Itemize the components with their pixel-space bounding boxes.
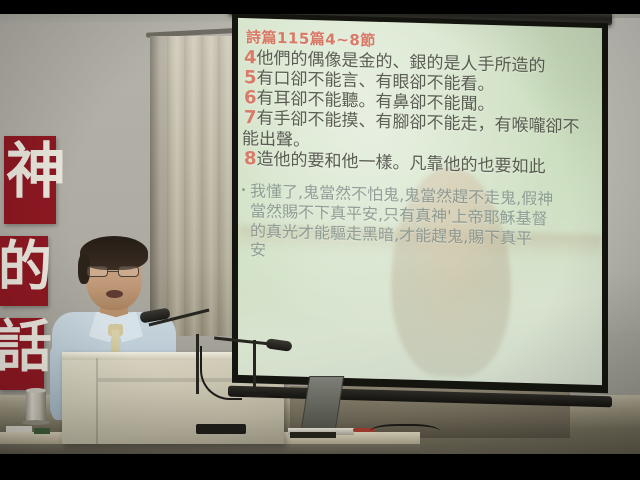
verse-number: 6 xyxy=(244,87,257,108)
wall-glyph-3: 話 xyxy=(0,320,42,376)
bullet-text: 我懂了,鬼當然不怕鬼,鬼當然趕不走鬼,假神 當然賜不下真平安,只有真神'上帝耶穌… xyxy=(250,181,598,270)
cup xyxy=(26,390,46,424)
letterbox-top xyxy=(0,0,640,14)
glasses-lens-right xyxy=(118,266,139,277)
verse-number: 4 xyxy=(244,47,257,68)
microphone-stand-1 xyxy=(196,334,199,394)
wall-glyph-1: 神 xyxy=(6,142,54,202)
screen-surface: 詩篇115篇4~8節 4他們的偶像是金的、銀的是人手所造的 5有口卻不能言、有眼… xyxy=(238,18,602,385)
glasses-bridge xyxy=(108,271,118,272)
verse-number: 7 xyxy=(244,108,257,129)
screen-frame: 詩篇115篇4~8節 4他們的偶像是金的、銀的是人手所造的 5有口卻不能言、有眼… xyxy=(232,13,608,394)
table-item-green xyxy=(34,428,50,434)
video-frame: 神 的 話 詩篇115篇4~8節 4他們的偶像是金的、銀的是人手所造的 5有口卻… xyxy=(0,0,640,480)
slide-content: 詩篇115篇4~8節 4他們的偶像是金的、銀的是人手所造的 5有口卻不能言、有眼… xyxy=(238,18,602,385)
projection-screen: 詩篇115篇4~8節 4他們的偶像是金的、銀的是人手所造的 5有口卻不能言、有眼… xyxy=(232,13,608,398)
speaker-hair xyxy=(80,236,148,270)
microphone-stand-2 xyxy=(253,340,256,396)
verse-number: 5 xyxy=(244,67,257,88)
glasses-lens-left xyxy=(87,266,108,277)
equipment-box xyxy=(196,424,246,434)
verse-number: 8 xyxy=(244,148,257,169)
bullet-point-icon xyxy=(242,188,245,191)
cup-base xyxy=(22,420,50,425)
wall-glyph-2: 的 xyxy=(0,240,46,294)
table-item-left xyxy=(6,426,32,432)
slide-bullet-block: 我懂了,鬼當然不怕鬼,鬼當然趕不走鬼,假神 當然賜不下真平安,只有真神'上帝耶穌… xyxy=(250,181,598,270)
speaker-mouth xyxy=(106,290,123,298)
podium-edge xyxy=(96,358,98,444)
microphone-base xyxy=(246,392,268,397)
letterbox-bottom xyxy=(0,454,640,480)
speaker-glasses-icon xyxy=(86,266,142,278)
cup-rim xyxy=(26,388,46,393)
cable-run xyxy=(370,424,440,442)
laptop-shadow xyxy=(290,432,336,438)
